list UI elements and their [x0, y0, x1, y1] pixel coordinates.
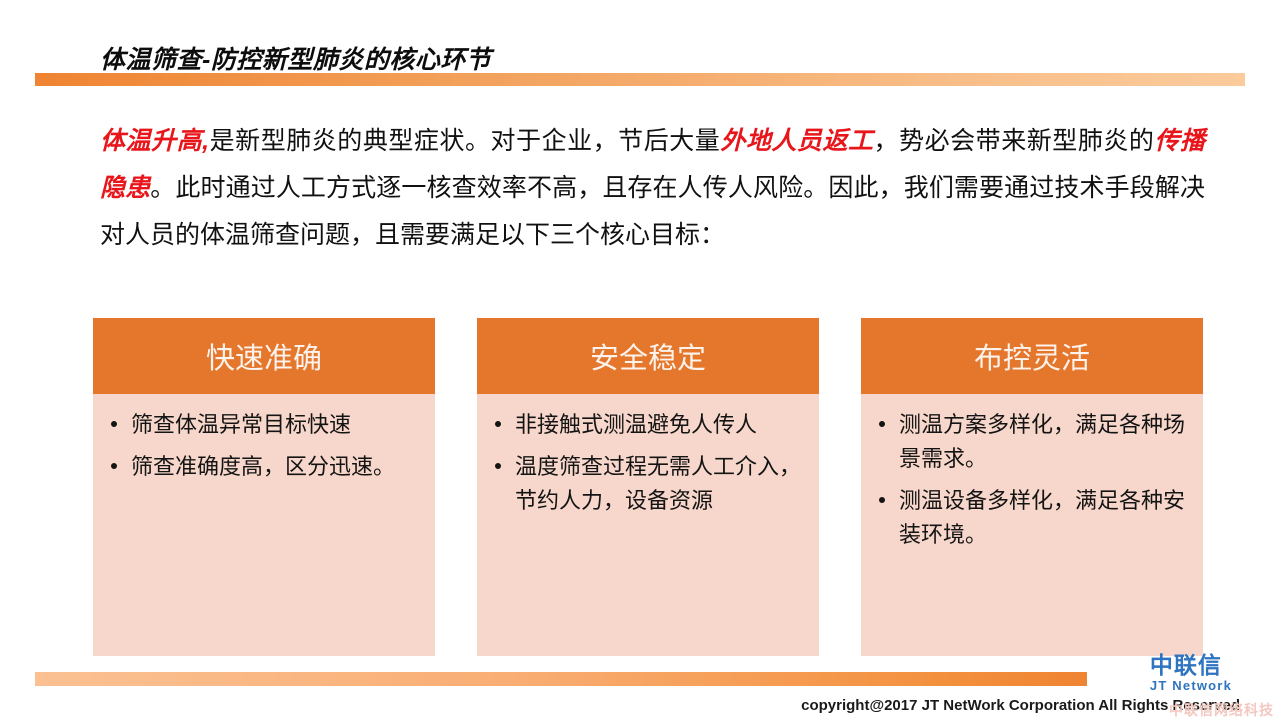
- goal-bullet-list: 非接触式测温避免人传人温度筛查过程无需人工介入，节约人力，设备资源: [489, 408, 807, 518]
- list-item-label: 非接触式测温避免人传人: [515, 412, 757, 437]
- list-item-label: 筛查体温异常目标快速: [131, 412, 351, 437]
- body-paragraph: 体温升高,是新型肺炎的典型症状。对于企业，节后大量外地人员返工，势必会带来新型肺…: [100, 118, 1205, 259]
- bullet-dot-icon: [495, 463, 501, 469]
- bullet-dot-icon: [879, 421, 885, 427]
- list-item: 非接触式测温避免人传人: [489, 408, 807, 442]
- slide-canvas: 体温筛查-防控新型肺炎的核心环节 体温升高,是新型肺炎的典型症状。对于企业，节后…: [0, 0, 1280, 720]
- bullet-dot-icon: [111, 421, 117, 427]
- goal-bullet-list: 筛查体温异常目标快速筛查准确度高，区分迅速。: [105, 408, 423, 484]
- bullet-dot-icon: [879, 497, 885, 503]
- list-item-label: 测温方案多样化，满足各种场景需求。: [899, 412, 1185, 471]
- goal-bullet-list: 测温方案多样化，满足各种场景需求。测温设备多样化，满足各种安装环境。: [873, 408, 1191, 552]
- goal-card-group: 快速准确筛查体温异常目标快速筛查准确度高，区分迅速。安全稳定非接触式测温避免人传…: [93, 318, 1203, 656]
- paragraph-highlight-run: 体温升高,: [100, 127, 209, 155]
- page-title: 体温筛查-防控新型肺炎的核心环节: [100, 40, 491, 76]
- goal-card-body: 测温方案多样化，满足各种场景需求。测温设备多样化，满足各种安装环境。: [861, 394, 1203, 656]
- goal-card: 布控灵活测温方案多样化，满足各种场景需求。测温设备多样化，满足各种安装环境。: [861, 318, 1203, 656]
- goal-card: 快速准确筛查体温异常目标快速筛查准确度高，区分迅速。: [93, 318, 435, 656]
- goal-card-body: 筛查体温异常目标快速筛查准确度高，区分迅速。: [93, 394, 435, 656]
- watermark-text: 中联信网络科技: [1169, 700, 1274, 720]
- list-item: 筛查准确度高，区分迅速。: [105, 450, 423, 484]
- logo-english-text: JT Network: [1150, 679, 1232, 692]
- list-item: 测温设备多样化，满足各种安装环境。: [873, 484, 1191, 552]
- goal-card-title: 安全稳定: [477, 318, 819, 394]
- goal-card-title: 布控灵活: [861, 318, 1203, 394]
- bullet-dot-icon: [111, 463, 117, 469]
- list-item-label: 筛查准确度高，区分迅速。: [131, 454, 395, 479]
- list-item: 温度筛查过程无需人工介入，节约人力，设备资源: [489, 450, 807, 518]
- list-item: 测温方案多样化，满足各种场景需求。: [873, 408, 1191, 476]
- goal-card-title: 快速准确: [93, 318, 435, 394]
- paragraph-plain-run: ，势必会带来新型肺炎的: [874, 127, 1155, 155]
- paragraph-runs: 体温升高,是新型肺炎的典型症状。对于企业，节后大量外地人员返工，势必会带来新型肺…: [100, 127, 1205, 249]
- list-item-label: 测温设备多样化，满足各种安装环境。: [899, 488, 1185, 547]
- goal-card: 安全稳定非接触式测温避免人传人温度筛查过程无需人工介入，节约人力，设备资源: [477, 318, 819, 656]
- bullet-dot-icon: [495, 421, 501, 427]
- logo-chinese-text: 中联信: [1150, 654, 1232, 677]
- footer-divider-bar: [35, 672, 1087, 686]
- title-divider-bar: [35, 73, 1245, 86]
- list-item: 筛查体温异常目标快速: [105, 408, 423, 442]
- list-item-label: 温度筛查过程无需人工介入，节约人力，设备资源: [515, 454, 801, 513]
- goal-card-body: 非接触式测温避免人传人温度筛查过程无需人工介入，节约人力，设备资源: [477, 394, 819, 656]
- paragraph-plain-run: 。此时通过人工方式逐一核查效率不高，且存在人传人风险。因此，我们需要通过技术手段…: [100, 174, 1205, 249]
- paragraph-plain-run: 是新型肺炎的典型症状。对于企业，节后大量: [209, 127, 720, 155]
- paragraph-highlight-run: 外地人员返工: [720, 127, 873, 155]
- company-logo: 中联信 JT Network: [1150, 654, 1232, 692]
